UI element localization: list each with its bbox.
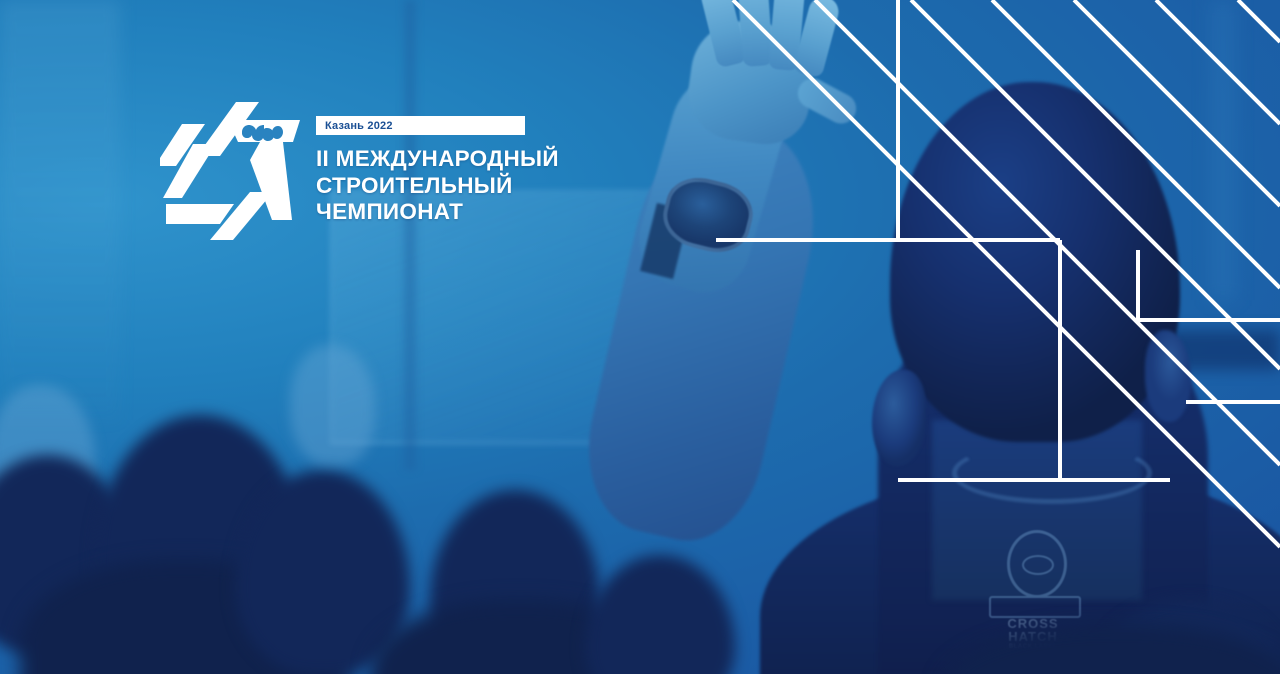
logo-lockup: Казань 2022 II МЕЖДУНАРОДНЫЙ СТРОИТЕЛЬНЫ… [160, 98, 559, 240]
title-line-2: СТРОИТЕЛЬНЫЙ [316, 173, 559, 200]
location-year-bar: Казань 2022 [316, 116, 525, 135]
location-year-label: Казань 2022 [325, 120, 393, 132]
championship-logo-icon [160, 98, 300, 240]
banner-canvas: CROSS HATCH BLACK LABEL [0, 0, 1280, 674]
title-line-3: ЧЕМПИОНАТ [316, 199, 559, 226]
audience-head [585, 555, 735, 674]
title-line-1: II МЕЖДУНАРОДНЫЙ [316, 146, 559, 173]
logo-text-block: Казань 2022 II МЕЖДУНАРОДНЫЙ СТРОИТЕЛЬНЫ… [316, 98, 559, 226]
audience-hand [290, 345, 375, 465]
